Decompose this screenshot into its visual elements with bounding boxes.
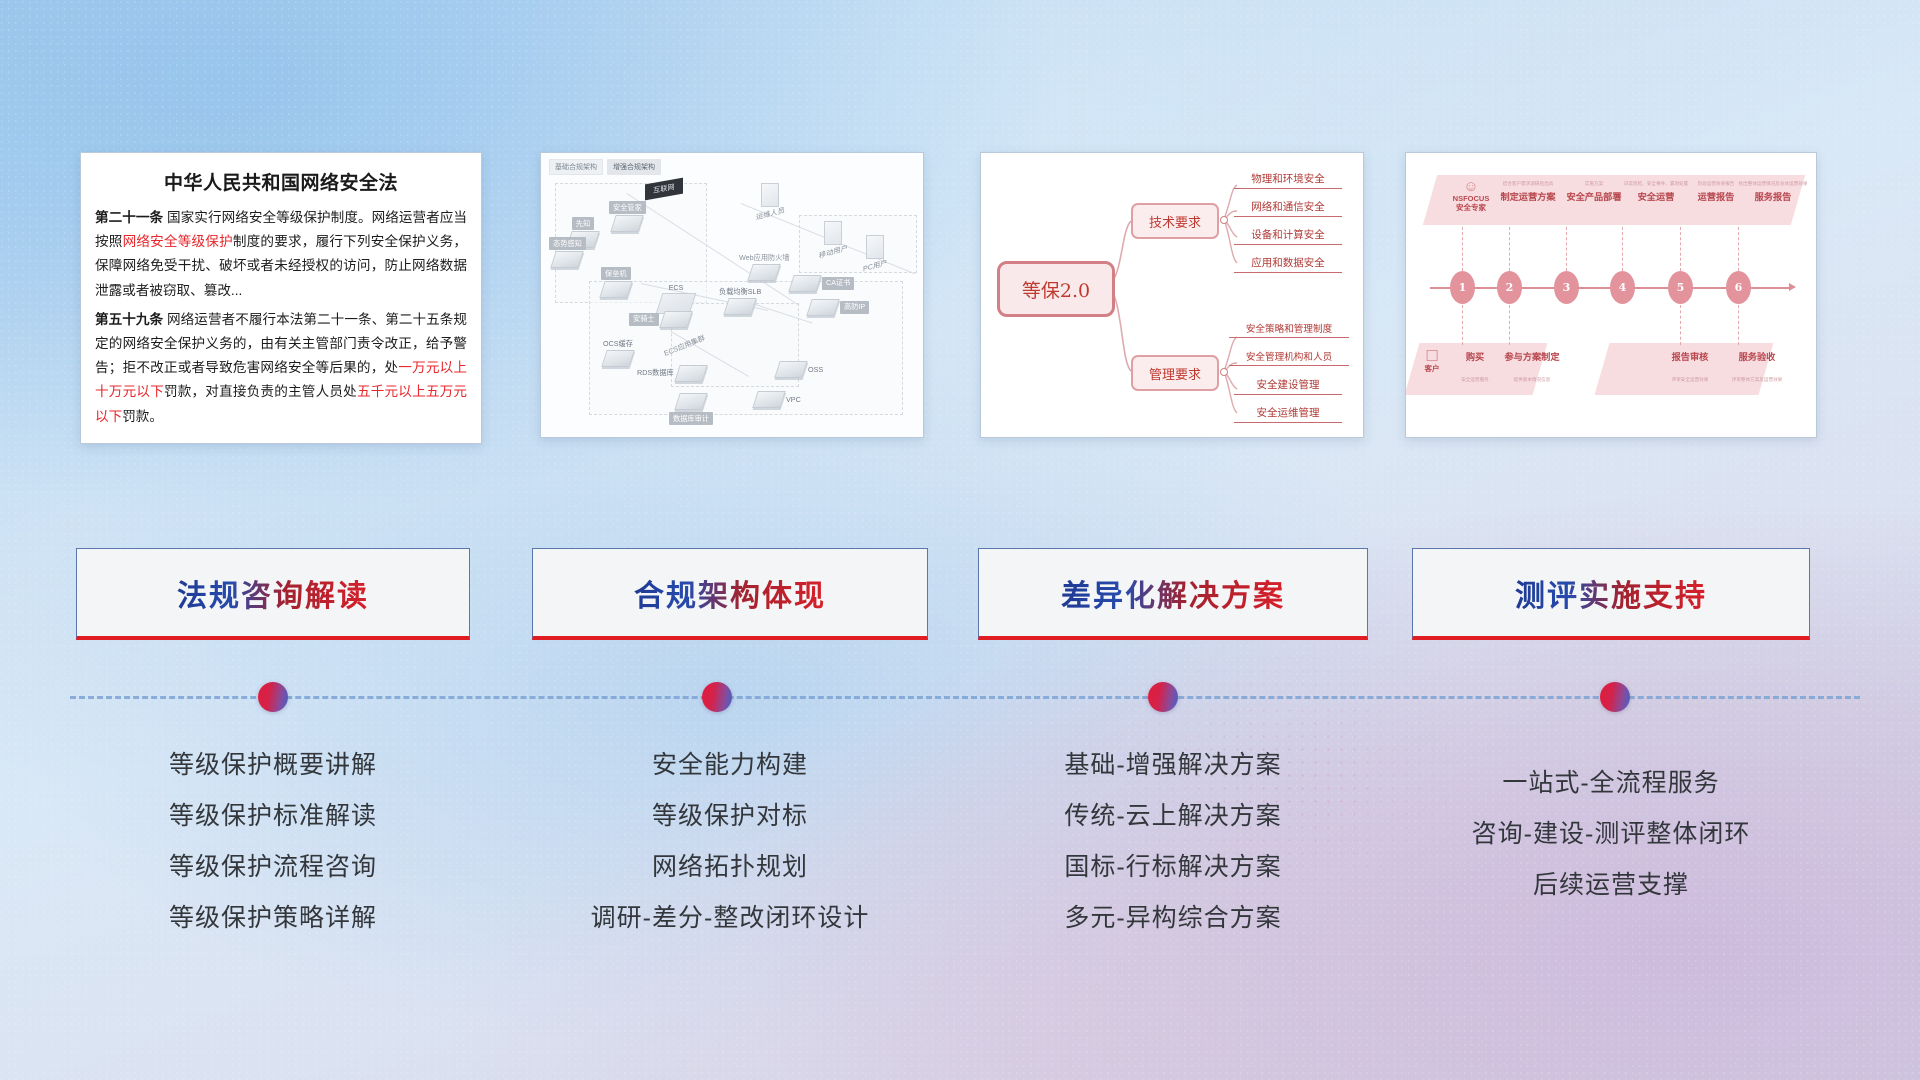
title-box-4-label: 测评实施支持 bbox=[1515, 571, 1707, 615]
node-situational-awareness-label: 态势感知 bbox=[549, 237, 586, 250]
flow-node-1[interactable]: 1 bbox=[1450, 271, 1475, 304]
architecture-tabs: 基础合规架构 增强合规架构 bbox=[549, 159, 661, 175]
timeline-dot-2[interactable] bbox=[702, 682, 732, 712]
pc-icon bbox=[866, 235, 884, 259]
node-ocs-cache-label: OCS缓存 bbox=[603, 339, 633, 349]
node-waf-label: Web应用防火墙 bbox=[739, 253, 790, 263]
article-59-part2: 罚款，对直接负责的主管人员处 bbox=[164, 384, 357, 399]
flow-step-purchase-sub: 安全运营服务 bbox=[1448, 377, 1502, 382]
node-ocs-cache: OCS缓存 bbox=[603, 339, 633, 367]
article-21-highlight: 网络安全等级保护 bbox=[123, 234, 233, 249]
mindmap-leaf-operation-mgmt: 安全运维管理 bbox=[1234, 405, 1342, 423]
mindmap-leaf-policy-system: 安全策略和管理制度 bbox=[1229, 321, 1349, 338]
node-slb: 负载均衡SLB bbox=[719, 287, 761, 315]
timeline-dot-4[interactable] bbox=[1600, 682, 1630, 712]
bullet-1-2: 等级保护标准解读 bbox=[76, 791, 470, 842]
node-security-steward: 安全管家 bbox=[609, 201, 646, 232]
node-oss-label: OSS bbox=[808, 365, 823, 374]
flow-tick-4 bbox=[1622, 227, 1623, 271]
mindmap-root: 等保2.0 bbox=[997, 261, 1115, 317]
node-ecs-label: ECS bbox=[669, 283, 684, 292]
mindmap-leaf-construction-mgmt: 安全建设管理 bbox=[1234, 377, 1342, 395]
title-box-regulation-consulting[interactable]: 法规咨询解读 bbox=[76, 548, 470, 640]
bullet-2-4: 调研-差分-整改闭环设计 bbox=[532, 893, 928, 944]
flow-step-service-report: 给出整体运营情况及总体运营效果 服务报告 bbox=[1736, 181, 1810, 203]
role-customer: ☐ 客户 bbox=[1416, 349, 1448, 374]
architecture-diagram: 基础合规架构 增强合规架构 互联网 安全管家 bbox=[541, 153, 923, 437]
mindmap: 等保2.0 技术要求 物理和环境安全 网络和通信安全 设备和计算安全 应用和数据… bbox=[981, 153, 1363, 437]
bullet-2-1: 安全能力构建 bbox=[532, 740, 928, 791]
node-cylinder-icon bbox=[774, 361, 808, 378]
bullet-column-4: 一站式-全流程服务 咨询-建设-测评整体闭环 后续运营支撑 bbox=[1412, 758, 1810, 911]
flow-tick-6 bbox=[1738, 227, 1739, 271]
flow-step-purchase-main: 购买 bbox=[1448, 349, 1502, 363]
bullet-4-3: 后续运营支撑 bbox=[1412, 860, 1810, 911]
node-oss: OSS bbox=[777, 361, 823, 378]
flow-step-participate-main: 参与方案制定 bbox=[1496, 349, 1568, 363]
mindmap-leaf-physical-env: 物理和环境安全 bbox=[1234, 171, 1342, 189]
flow-step-service-report-main: 服务报告 bbox=[1736, 189, 1810, 203]
node-vpc: VPC bbox=[755, 391, 801, 408]
flow-timeline-arrow-icon bbox=[1789, 283, 1796, 291]
bullet-4-1: 一站式-全流程服务 bbox=[1412, 758, 1810, 809]
law-article-59: 第五十九条 网络运营者不履行本法第二十一条、第二十五条规定的网络安全保护义务的，… bbox=[95, 308, 467, 429]
mindmap-collapse-dot-management[interactable] bbox=[1220, 368, 1228, 376]
node-cylinder-icon bbox=[788, 275, 822, 292]
title-box-1-label: 法规咨询解读 bbox=[177, 571, 369, 615]
node-pc-user: PC用户 bbox=[863, 235, 887, 272]
flow-tick-c5 bbox=[1680, 305, 1681, 345]
card-compliance-architecture[interactable]: 基础合规架构 增强合规架构 互联网 安全管家 bbox=[540, 152, 924, 438]
node-cylinder-icon bbox=[599, 281, 633, 298]
flow-step-report-review-sub: 评审安全运营效果 bbox=[1654, 377, 1726, 382]
law-body: 第二十一条 国家实行网络安全等级保护制度。网络运营者应当按照网络安全等级保护制度… bbox=[81, 206, 481, 429]
card-dengbao-mindmap[interactable]: 等保2.0 技术要求 物理和环境安全 网络和通信安全 设备和计算安全 应用和数据… bbox=[980, 152, 1364, 438]
law-title: 中华人民共和国网络安全法 bbox=[81, 168, 481, 195]
node-pc-user-label: PC用户 bbox=[863, 258, 887, 275]
node-ca-certificate: CA证书 bbox=[791, 275, 854, 292]
bullet-3-1: 基础-增强解决方案 bbox=[978, 740, 1368, 791]
bullet-1-4: 等级保护策略详解 bbox=[76, 893, 470, 944]
flow-node-6[interactable]: 6 bbox=[1726, 271, 1751, 304]
card-nsfocus-service-flow[interactable]: ☺ NSFOCUS 安全专家 结合客户需求调研后出具 制定运营方案 实施方案 安… bbox=[1405, 152, 1817, 438]
node-ecs: ECS bbox=[659, 283, 693, 314]
flow-step-participate: 参与方案制定 提供基本情况信息 bbox=[1496, 349, 1568, 382]
bullet-4-2: 咨询-建设-测评整体闭环 bbox=[1412, 809, 1810, 860]
bullet-3-3: 国标-行标解决方案 bbox=[978, 842, 1368, 893]
node-cylinder-icon bbox=[611, 215, 645, 232]
node-ca-certificate-label: CA证书 bbox=[822, 277, 854, 290]
mindmap-leaf-app-data: 应用和数据安全 bbox=[1234, 255, 1342, 273]
flow-tick-2 bbox=[1509, 227, 1510, 271]
node-anqishi: 安骑士 bbox=[629, 311, 690, 328]
node-mobile-user: 移动用户 bbox=[819, 221, 848, 258]
bullet-1-1: 等级保护概要讲解 bbox=[76, 740, 470, 791]
flow-tick-c6 bbox=[1738, 305, 1739, 345]
customer-icon: ☐ bbox=[1416, 349, 1448, 364]
flow-tick-c2 bbox=[1509, 305, 1510, 345]
node-high-defense-ip-label: 高防IP bbox=[840, 301, 869, 314]
flow-tick-3 bbox=[1566, 227, 1567, 271]
flow-step-acceptance-main: 服务验收 bbox=[1718, 349, 1796, 363]
tab-enhanced-architecture[interactable]: 增强合规架构 bbox=[607, 159, 661, 175]
flow-tick-5 bbox=[1680, 227, 1681, 271]
flow-step-plan: 结合客户需求调研后出具 制定运营方案 bbox=[1492, 181, 1564, 203]
title-box-2-label: 合规架构体现 bbox=[634, 571, 826, 615]
mindmap-leaf-org-personnel: 安全管理机构和人员 bbox=[1229, 349, 1349, 366]
flow-node-4[interactable]: 4 bbox=[1610, 271, 1635, 304]
node-waf: Web应用防火墙 bbox=[739, 253, 790, 281]
expert-line-2: 安全专家 bbox=[1442, 204, 1500, 213]
bullet-1-3: 等级保护流程咨询 bbox=[76, 842, 470, 893]
flow-tick-c1 bbox=[1462, 305, 1463, 345]
mindmap-leaf-device-compute: 设备和计算安全 bbox=[1234, 227, 1342, 245]
bullet-3-4: 多元-异构综合方案 bbox=[978, 893, 1368, 944]
bullet-column-1: 等级保护概要讲解 等级保护标准解读 等级保护流程咨询 等级保护策略详解 bbox=[76, 740, 470, 944]
flow-node-5[interactable]: 5 bbox=[1668, 271, 1693, 304]
node-anqishi-label: 安骑士 bbox=[629, 313, 659, 326]
tab-basic-architecture[interactable]: 基础合规架构 bbox=[549, 159, 603, 175]
person-icon bbox=[761, 183, 779, 207]
title-box-differentiated-solution[interactable]: 差异化解决方案 bbox=[978, 548, 1368, 640]
title-box-3-label: 差异化解决方案 bbox=[1061, 571, 1285, 615]
node-rds: RDS数据库 bbox=[637, 365, 705, 382]
bullet-3-2: 传统-云上解决方案 bbox=[978, 791, 1368, 842]
section-title-row: 法规咨询解读 合规架构体现 差异化解决方案 测评实施支持 bbox=[0, 548, 1920, 640]
node-db-audit: 数据库审计 bbox=[669, 393, 713, 426]
node-cylinder-icon bbox=[674, 365, 708, 382]
node-db-audit-label: 数据库审计 bbox=[669, 412, 713, 425]
article-21-label: 第二十一条 bbox=[95, 210, 163, 225]
node-cylinder-icon bbox=[752, 391, 786, 408]
node-cylinder-icon bbox=[551, 251, 585, 268]
flow-node-2[interactable]: 2 bbox=[1497, 271, 1522, 304]
node-high-defense-ip: 高防IP bbox=[809, 299, 869, 316]
flow-step-service-report-sub: 给出整体运营情况及总体运营效果 bbox=[1736, 181, 1810, 186]
customer-label: 客户 bbox=[1416, 365, 1448, 374]
mindmap-branch-technical[interactable]: 技术要求 bbox=[1131, 203, 1219, 239]
flow-step-purchase: 购买 安全运营服务 bbox=[1448, 349, 1502, 382]
node-vpc-label: VPC bbox=[786, 395, 801, 404]
node-bastion-host-label: 保垒机 bbox=[601, 267, 631, 280]
node-xianzhi-label: 先知 bbox=[572, 217, 594, 230]
mindmap-leaf-network-comm: 网络和通信安全 bbox=[1234, 199, 1342, 217]
mobile-icon bbox=[824, 221, 842, 245]
bullet-column-3: 基础-增强解决方案 传统-云上解决方案 国标-行标解决方案 多元-异构综合方案 bbox=[978, 740, 1368, 944]
node-cylinder-icon bbox=[723, 298, 757, 315]
node-cylinder-icon bbox=[674, 393, 708, 410]
law-article-21: 第二十一条 国家实行网络安全等级保护制度。网络运营者应当按照网络安全等级保护制度… bbox=[95, 206, 467, 303]
node-cylinder-icon bbox=[806, 299, 840, 316]
mindmap-collapse-dot-technical[interactable] bbox=[1220, 216, 1228, 224]
flow-step-report-review-main: 报告审核 bbox=[1654, 349, 1726, 363]
flow-step-report-review: 报告审核 评审安全运营效果 bbox=[1654, 349, 1726, 382]
node-ops-staff: 运维人员 bbox=[756, 183, 785, 220]
bullet-2-3: 网络拓扑规划 bbox=[532, 842, 928, 893]
article-59-part3: 罚款。 bbox=[122, 409, 163, 424]
title-box-assessment-support[interactable]: 测评实施支持 bbox=[1412, 548, 1810, 640]
node-security-steward-label: 安全管家 bbox=[609, 201, 646, 214]
card-cybersecurity-law[interactable]: 中华人民共和国网络安全法 第二十一条 国家实行网络安全等级保护制度。网络运营者应… bbox=[80, 152, 482, 444]
flow-step-acceptance: 服务验收 评审整体方案及运营效果 bbox=[1718, 349, 1796, 382]
mindmap-branch-management[interactable]: 管理要求 bbox=[1131, 355, 1219, 391]
node-situational-awareness: 态势感知 bbox=[549, 237, 586, 268]
flow-step-plan-main: 制定运营方案 bbox=[1492, 189, 1564, 203]
node-cylinder-icon bbox=[601, 350, 635, 367]
node-cylinder-icon bbox=[659, 311, 693, 328]
preview-cards-row: 中华人民共和国网络安全法 第二十一条 国家实行网络安全等级保护制度。网络运营者应… bbox=[0, 152, 1920, 442]
bullet-column-2: 安全能力构建 等级保护对标 网络拓扑规划 调研-差分-整改闭环设计 bbox=[532, 740, 928, 944]
bullet-2-2: 等级保护对标 bbox=[532, 791, 928, 842]
timeline-dot-1[interactable] bbox=[258, 682, 288, 712]
node-slb-label: 负载均衡SLB bbox=[719, 287, 761, 297]
article-59-label: 第五十九条 bbox=[95, 312, 163, 327]
node-rds-label: RDS数据库 bbox=[637, 368, 674, 378]
node-bastion-host: 保垒机 bbox=[601, 267, 631, 298]
node-cylinder-icon bbox=[748, 264, 782, 281]
timeline-dot-3[interactable] bbox=[1148, 682, 1178, 712]
timeline-dashed-line bbox=[70, 696, 1860, 701]
service-flow-diagram: ☺ NSFOCUS 安全专家 结合客户需求调研后出具 制定运营方案 实施方案 安… bbox=[1406, 153, 1816, 437]
title-box-compliance-architecture[interactable]: 合规架构体现 bbox=[532, 548, 928, 640]
zone-users bbox=[799, 215, 917, 273]
flow-step-acceptance-sub: 评审整体方案及运营效果 bbox=[1718, 377, 1796, 382]
flow-step-plan-sub: 结合客户需求调研后出具 bbox=[1492, 181, 1564, 186]
flow-step-participate-sub: 提供基本情况信息 bbox=[1496, 377, 1568, 382]
flow-tick-1 bbox=[1462, 227, 1463, 271]
flow-node-3[interactable]: 3 bbox=[1554, 271, 1579, 304]
